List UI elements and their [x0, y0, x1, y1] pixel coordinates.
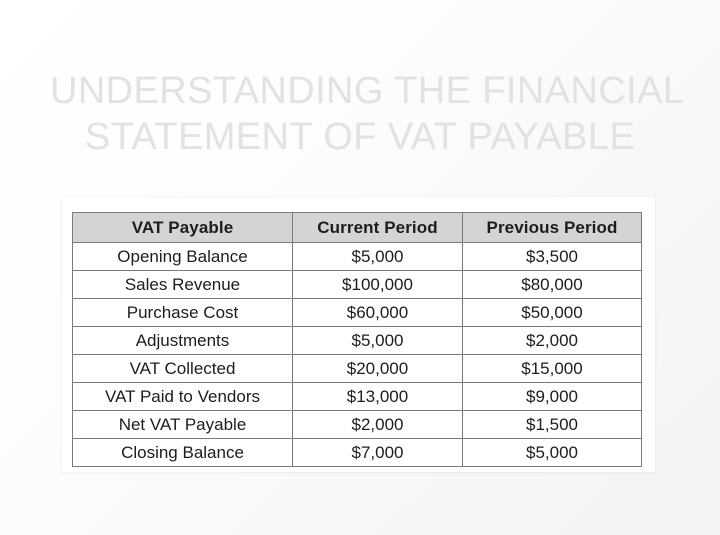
table-row: Net VAT Payable $2,000 $1,500: [73, 411, 642, 439]
row-current-value: $2,000: [293, 411, 463, 439]
row-previous-value: $3,500: [463, 243, 642, 271]
row-current-value: $100,000: [293, 271, 463, 299]
row-current-value: $20,000: [293, 355, 463, 383]
table-row: Closing Balance $7,000 $5,000: [73, 439, 642, 467]
row-label: VAT Paid to Vendors: [73, 383, 293, 411]
row-previous-value: $5,000: [463, 439, 642, 467]
table-row: Adjustments $5,000 $2,000: [73, 327, 642, 355]
column-header-vat-payable: VAT Payable: [73, 213, 293, 243]
row-current-value: $5,000: [293, 243, 463, 271]
column-header-current-period: Current Period: [293, 213, 463, 243]
table-row: Sales Revenue $100,000 $80,000: [73, 271, 642, 299]
row-previous-value: $80,000: [463, 271, 642, 299]
row-label: Purchase Cost: [73, 299, 293, 327]
column-header-previous-period: Previous Period: [463, 213, 642, 243]
table-row: VAT Collected $20,000 $15,000: [73, 355, 642, 383]
row-current-value: $7,000: [293, 439, 463, 467]
row-label: Sales Revenue: [73, 271, 293, 299]
table-row: VAT Paid to Vendors $13,000 $9,000: [73, 383, 642, 411]
row-previous-value: $50,000: [463, 299, 642, 327]
row-previous-value: $2,000: [463, 327, 642, 355]
vat-payable-table: VAT Payable Current Period Previous Peri…: [72, 212, 642, 467]
table-header-row: VAT Payable Current Period Previous Peri…: [73, 213, 642, 243]
row-label: Closing Balance: [73, 439, 293, 467]
row-label: Opening Balance: [73, 243, 293, 271]
row-current-value: $13,000: [293, 383, 463, 411]
row-label: Net VAT Payable: [73, 411, 293, 439]
row-previous-value: $1,500: [463, 411, 642, 439]
row-current-value: $60,000: [293, 299, 463, 327]
table-row: Opening Balance $5,000 $3,500: [73, 243, 642, 271]
page-title-line-2: STATEMENT OF VAT PAYABLE: [50, 114, 670, 160]
row-current-value: $5,000: [293, 327, 463, 355]
page-title: UNDERSTANDING THE FINANCIAL STATEMENT OF…: [50, 68, 670, 160]
row-previous-value: $9,000: [463, 383, 642, 411]
row-previous-value: $15,000: [463, 355, 642, 383]
slide-canvas: UNDERSTANDING THE FINANCIAL STATEMENT OF…: [0, 0, 720, 535]
table-row: Purchase Cost $60,000 $50,000: [73, 299, 642, 327]
row-label: Adjustments: [73, 327, 293, 355]
page-title-line-1: UNDERSTANDING THE FINANCIAL: [50, 68, 670, 114]
row-label: VAT Collected: [73, 355, 293, 383]
table-header: VAT Payable Current Period Previous Peri…: [73, 213, 642, 243]
table-body: Opening Balance $5,000 $3,500 Sales Reve…: [73, 243, 642, 467]
